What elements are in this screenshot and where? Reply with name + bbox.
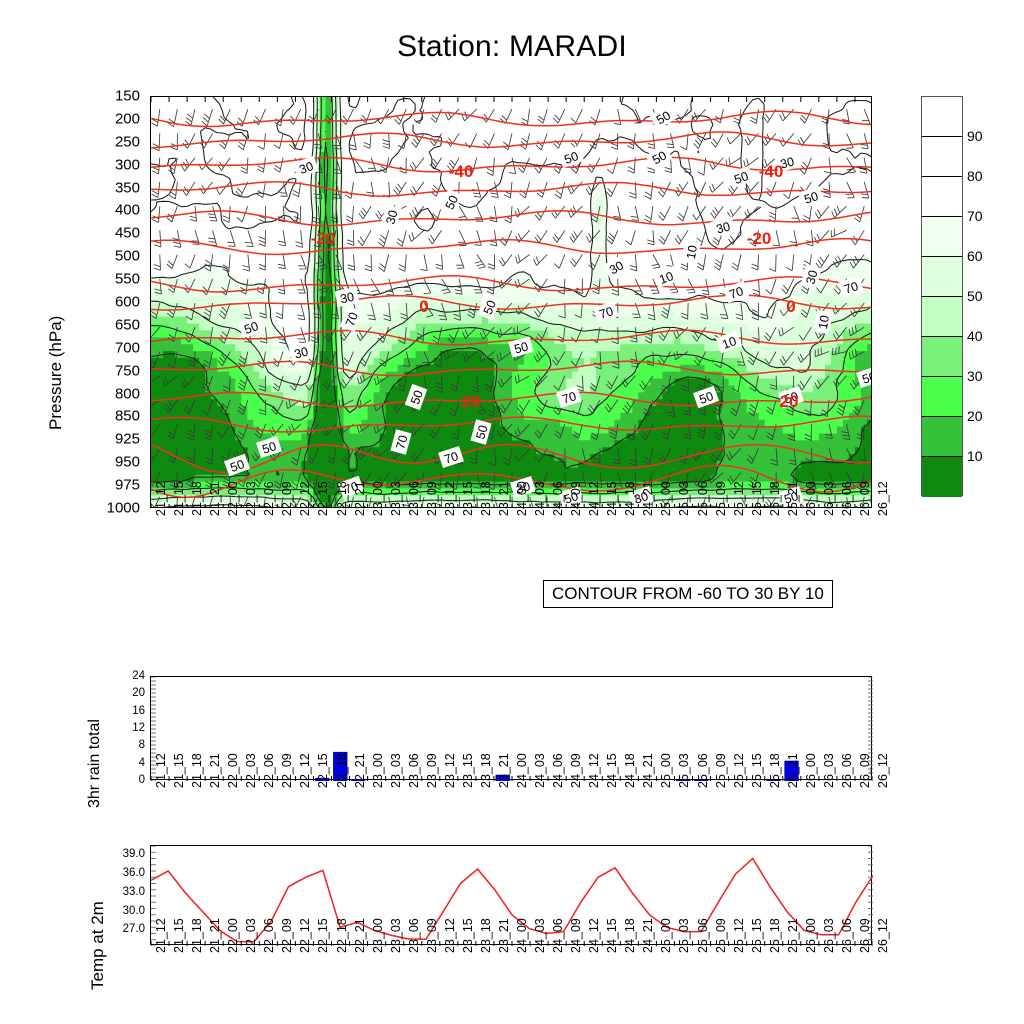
pressure-tick-label: 975: [96, 477, 140, 494]
x-axis-label: 26_09: [858, 918, 872, 953]
x-axis-label: 26_06: [840, 481, 854, 516]
x-axis-label: 26_09: [858, 753, 872, 788]
x-axis-label: 25_15: [750, 753, 764, 788]
x-axis-label: 25_03: [677, 918, 691, 953]
x-axis-label: 22_00: [226, 753, 240, 788]
colorbar-tick-label: 50: [967, 288, 983, 304]
x-axis-label: 25_00: [659, 753, 673, 788]
x-axis-label: 23_03: [389, 481, 403, 516]
rain-tick-label: 20: [105, 687, 145, 699]
rain-tick-label: 12: [105, 722, 145, 734]
x-axis-label: 24_15: [605, 753, 619, 788]
temp-tick-label: 27.0: [105, 923, 145, 935]
pressure-tick-label: 350: [96, 179, 140, 196]
x-axis-label: 25_12: [732, 918, 746, 953]
x-axis-label: 21_18: [190, 753, 204, 788]
x-axis-label: 25_06: [696, 481, 710, 516]
x-axis-label: 23_00: [371, 481, 385, 516]
x-axis-label: 22_12: [298, 481, 312, 516]
pressure-tick-label: 700: [96, 339, 140, 356]
x-axis-label: 25_15: [750, 481, 764, 516]
x-axis-label: 24_00: [515, 918, 529, 953]
svg-text:10: 10: [684, 244, 700, 260]
x-axis-label: 24_00: [515, 481, 529, 516]
x-axis-label: 26_06: [840, 753, 854, 788]
x-axis-label: 22_09: [280, 918, 294, 953]
x-axis-label: 25_00: [659, 918, 673, 953]
rain-tick-label: 4: [105, 757, 145, 769]
x-axis-label: 23_18: [479, 481, 493, 516]
x-axis-label: 26_12: [876, 753, 890, 788]
x-axis-label: 24_03: [533, 481, 547, 516]
svg-text:10: 10: [816, 314, 832, 330]
x-axis-label: 25_21: [786, 918, 800, 953]
x-axis-label: 21_12: [154, 481, 168, 516]
x-axis-label: 25_21: [786, 481, 800, 516]
x-axis-label: 22_18: [335, 753, 349, 788]
x-axis-label: 21_18: [190, 918, 204, 953]
rain-tick-label: 16: [105, 705, 145, 717]
x-axis-label: 23_12: [443, 918, 457, 953]
x-axis-label: 24_18: [623, 481, 637, 516]
x-axis-label: 26_00: [804, 753, 818, 788]
x-axis-label: 21_21: [208, 918, 222, 953]
x-axis-label: 25_06: [696, 753, 710, 788]
x-axis-label: 22_06: [262, 918, 276, 953]
x-axis-label: 21_18: [190, 481, 204, 516]
x-axis-label: 22_06: [262, 481, 276, 516]
colorbar-labels: 908070605040302010: [921, 96, 1011, 496]
x-axis-label: 23_03: [389, 918, 403, 953]
x-axis-label: 23_00: [371, 918, 385, 953]
x-axis-label: 25_00: [659, 481, 673, 516]
x-axis-label: 23_21: [497, 918, 511, 953]
svg-text:-20: -20: [747, 229, 772, 248]
x-axis-label: 25_09: [714, 481, 728, 516]
x-axis-label: 25_12: [732, 481, 746, 516]
colorbar-tick-label: 20: [967, 408, 983, 424]
rain-tick-label: 24: [105, 670, 145, 682]
rain-axis-label-text: 3hr rain total: [86, 719, 104, 808]
x-axis-label: 21_12: [154, 753, 168, 788]
pressure-tick-label: 600: [96, 294, 140, 311]
x-axis-label: 26_00: [804, 918, 818, 953]
x-axis-label: 24_18: [623, 918, 637, 953]
pressure-tick-label: 200: [96, 110, 140, 127]
x-axis-label: 24_09: [569, 753, 583, 788]
temp-axis-label: Temp at 2m: [66, 840, 92, 1000]
x-axis-label: 22_12: [298, 753, 312, 788]
x-axis-label: 23_03: [389, 753, 403, 788]
x-axis-label: 25_09: [714, 753, 728, 788]
x-axis-label: 21_12: [154, 918, 168, 953]
x-axis-label: 21_15: [172, 753, 186, 788]
x-axis-label: 24_12: [587, 481, 601, 516]
x-axis-label: 24_21: [641, 918, 655, 953]
temp-tick-label: 39.0: [105, 848, 145, 860]
svg-text:-40: -40: [759, 162, 784, 181]
colorbar-tick-label: 40: [967, 328, 983, 344]
x-axis-label: 26_09: [858, 481, 872, 516]
x-axis-label: 24_21: [641, 481, 655, 516]
colorbar-tick-label: 70: [967, 208, 983, 224]
rain-tick-label: 0: [105, 774, 145, 786]
temp-line: [151, 859, 873, 942]
x-axis-label: 24_00: [515, 753, 529, 788]
x-axis-label: 23_06: [407, 481, 421, 516]
svg-text:20: 20: [462, 392, 481, 411]
x-axis-label: 24_03: [533, 753, 547, 788]
x-axis-label: 22_15: [316, 753, 330, 788]
x-axis-label: 24_12: [587, 753, 601, 788]
pressure-tick-label: 800: [96, 385, 140, 402]
x-axis-label: 25_21: [786, 753, 800, 788]
x-axis-label: 25_09: [714, 918, 728, 953]
x-axis-label: 24_15: [605, 918, 619, 953]
temp-tick-label: 36.0: [105, 867, 145, 879]
pressure-tick-label: 750: [96, 362, 140, 379]
x-axis-label: 24_21: [641, 753, 655, 788]
temp-tick-label: 33.0: [105, 886, 145, 898]
x-axis-label: 25_18: [768, 918, 782, 953]
x-axis-label: 22_03: [244, 481, 258, 516]
colorbar-tick-label: 30: [967, 368, 983, 384]
pressure-tick-label: 850: [96, 408, 140, 425]
x-axis-label: 22_21: [353, 481, 367, 516]
x-axis-label: 23_15: [461, 481, 475, 516]
x-axis-label: 25_15: [750, 918, 764, 953]
pressure-tick-label: 650: [96, 316, 140, 333]
x-axis-label: 24_06: [551, 918, 565, 953]
colorbar-tick-label: 10: [967, 448, 983, 464]
x-axis-label: 21_15: [172, 918, 186, 953]
x-axis-label: 24_18: [623, 753, 637, 788]
x-axis-label: 26_12: [876, 481, 890, 516]
x-axis-label: 23_21: [497, 481, 511, 516]
x-axis-label: 22_00: [226, 918, 240, 953]
x-axis-label: 22_09: [280, 481, 294, 516]
svg-text:-20: -20: [311, 229, 336, 248]
contour-plot-svg: 3030505030303010105050305050307050707070…: [151, 97, 872, 508]
x-axis-label: 25_03: [677, 753, 691, 788]
pressure-axis-ticks: 1502002503003504004505005506006507007508…: [96, 96, 140, 508]
svg-text:30: 30: [339, 290, 356, 307]
x-axis-label: 26_03: [822, 481, 836, 516]
x-axis-label: 24_06: [551, 481, 565, 516]
colorbar-tick-label: 80: [967, 168, 983, 184]
x-axis-label: 22_03: [244, 918, 258, 953]
pressure-tick-label: 1000: [96, 500, 140, 517]
x-axis-label: 24_09: [569, 481, 583, 516]
pressure-tick-label: 300: [96, 156, 140, 173]
x-axis-label: 22_15: [316, 918, 330, 953]
x-axis-label: 25_06: [696, 918, 710, 953]
x-axis-label: 22_21: [353, 918, 367, 953]
temp-axis-ticks: 39.036.033.030.027.0: [105, 845, 145, 945]
svg-text:0: 0: [786, 297, 795, 316]
pressure-tick-label: 150: [96, 88, 140, 105]
x-axis-label: 24_06: [551, 753, 565, 788]
pressure-axis-label-text: Pressure (hPa): [46, 316, 66, 430]
x-axis-label: 26_12: [876, 918, 890, 953]
main-x-axis-labels: 21_1221_1521_1821_2122_0022_0322_0622_09…: [150, 514, 872, 584]
x-axis-label: 23_06: [407, 753, 421, 788]
rain-tick-label: 8: [105, 739, 145, 751]
pressure-tick-label: 950: [96, 454, 140, 471]
x-axis-label: 23_09: [425, 481, 439, 516]
colorbar-tick-label: 90: [967, 128, 983, 144]
x-axis-label: 25_18: [768, 753, 782, 788]
svg-text:20: 20: [780, 392, 799, 411]
pressure-tick-label: 450: [96, 225, 140, 242]
temp-line-svg: [151, 846, 873, 946]
x-axis-label: 26_03: [822, 918, 836, 953]
x-axis-label: 23_15: [461, 918, 475, 953]
x-axis-label: 24_09: [569, 918, 583, 953]
pressure-axis-label: Pressure (hPa): [20, 180, 50, 440]
pressure-tick-label: 925: [96, 431, 140, 448]
rain-axis-label: 3hr rain total: [66, 660, 92, 810]
x-axis-label: 21_21: [208, 481, 222, 516]
pressure-tick-label: 250: [96, 133, 140, 150]
x-axis-label: 24_15: [605, 481, 619, 516]
x-axis-label: 24_12: [587, 918, 601, 953]
svg-text:-40: -40: [449, 162, 474, 181]
x-axis-label: 25_03: [677, 481, 691, 516]
x-axis-label: 23_12: [443, 481, 457, 516]
pressure-tick-label: 500: [96, 248, 140, 265]
x-axis-label: 25_12: [732, 753, 746, 788]
colorbar-tick-label: 60: [967, 248, 983, 264]
temp-tick-label: 30.0: [105, 905, 145, 917]
x-axis-label: 23_09: [425, 918, 439, 953]
x-axis-label: 23_18: [479, 753, 493, 788]
svg-text:0: 0: [419, 297, 428, 316]
x-axis-label: 23_06: [407, 918, 421, 953]
x-axis-label: 23_18: [479, 918, 493, 953]
x-axis-label: 26_00: [804, 481, 818, 516]
rain-bar-svg: [151, 677, 873, 781]
x-axis-label: 24_03: [533, 918, 547, 953]
x-axis-label: 22_18: [335, 918, 349, 953]
temp-x-axis-labels: 21_1221_1521_1821_2122_0022_0322_0622_09…: [150, 951, 872, 1021]
main-cross-section-panel: Pressure (hPa) 1502002503003504004505005…: [0, 0, 1024, 620]
pressure-tick-label: 400: [96, 202, 140, 219]
rain-axis-ticks: 24201612840: [105, 676, 145, 780]
x-axis-label: 22_00: [226, 481, 240, 516]
x-axis-label: 22_12: [298, 918, 312, 953]
x-axis-label: 23_00: [371, 753, 385, 788]
x-axis-label: 22_18: [335, 481, 349, 516]
contour-caption: CONTOUR FROM -60 TO 30 BY 10: [543, 580, 833, 608]
x-axis-label: 23_09: [425, 753, 439, 788]
x-axis-label: 22_03: [244, 753, 258, 788]
x-axis-label: 25_18: [768, 481, 782, 516]
x-axis-label: 23_15: [461, 753, 475, 788]
x-axis-label: 22_15: [316, 481, 330, 516]
x-axis-label: 26_06: [840, 918, 854, 953]
x-axis-label: 22_09: [280, 753, 294, 788]
x-axis-label: 26_03: [822, 753, 836, 788]
x-axis-label: 22_21: [353, 753, 367, 788]
x-axis-label: 21_21: [208, 753, 222, 788]
x-axis-label: 21_15: [172, 481, 186, 516]
pressure-tick-label: 550: [96, 271, 140, 288]
contour-plot-area[interactable]: 3030505030303010105050305050307050707070…: [150, 96, 872, 508]
x-axis-label: 23_21: [497, 753, 511, 788]
x-axis-label: 22_06: [262, 753, 276, 788]
x-axis-label: 23_12: [443, 753, 457, 788]
